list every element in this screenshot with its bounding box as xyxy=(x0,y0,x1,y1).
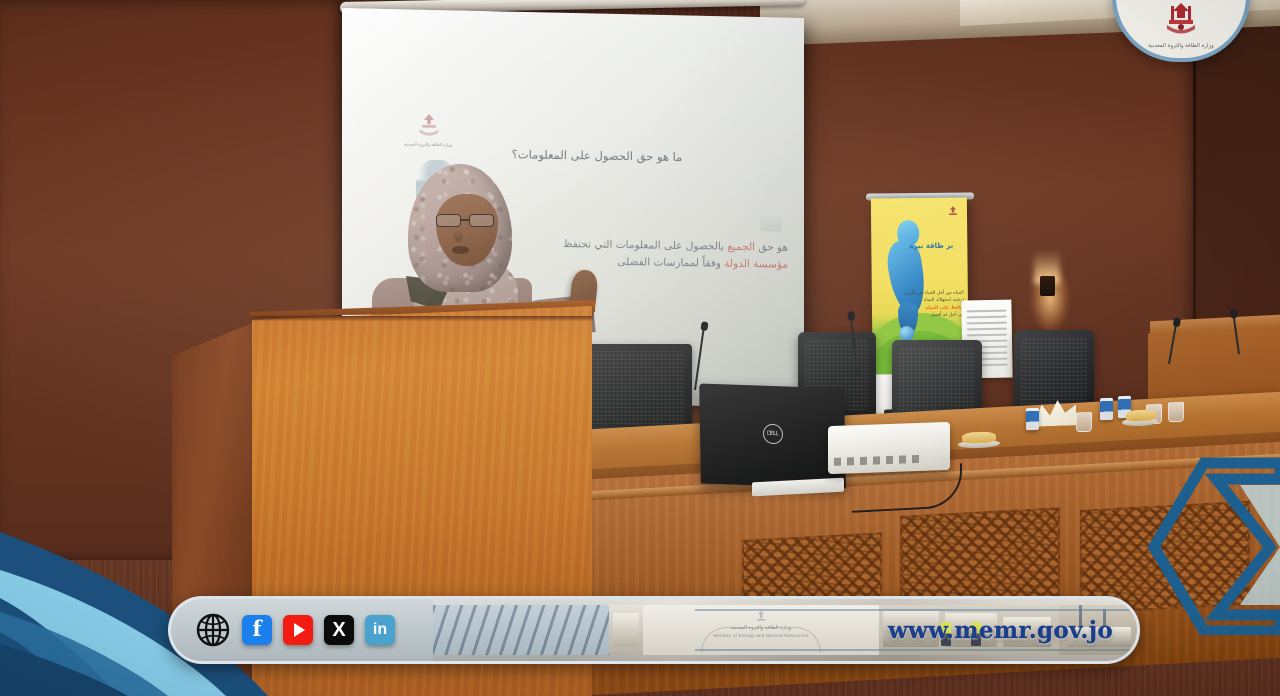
collage-stripe-top xyxy=(695,609,1137,611)
rollup-body-highlight: حافظ على المياه xyxy=(925,305,964,310)
wall-sconce-lamp xyxy=(1040,276,1055,296)
collage-solar-panels xyxy=(433,605,609,655)
laptop[interactable]: DELL xyxy=(699,383,846,488)
slide-body-post: وفقاً لممارسات الفضلى xyxy=(617,256,724,270)
rollup-body-line2: ترشيد استهلاك المياه xyxy=(924,298,964,303)
podium-lip xyxy=(252,316,593,321)
jordan-coat-of-arms-icon xyxy=(1159,1,1203,41)
pastry xyxy=(1126,409,1156,421)
ministry-logo xyxy=(412,112,446,143)
presenter-nose xyxy=(454,230,463,242)
eyeglass-lens-right xyxy=(469,214,494,227)
website-globe-icon[interactable] xyxy=(195,612,231,648)
youtube-icon[interactable] xyxy=(283,615,313,645)
collage-ministry-hq: وزارة الطاقة والثروة المعدنية Ministry o… xyxy=(643,605,879,655)
slide-corner-block xyxy=(760,215,782,231)
footer-banner: وزارة الطاقة والثروة المعدنية Ministry o… xyxy=(168,596,1140,664)
website-url[interactable]: www.memr.gov.jo xyxy=(888,617,1113,644)
collage-ministry-emblem xyxy=(753,610,769,624)
dell-logo: DELL xyxy=(762,424,782,445)
microphone-head xyxy=(1229,309,1237,319)
microphone-head xyxy=(700,321,708,331)
drinking-glass xyxy=(1168,402,1184,423)
youtube-play-triangle xyxy=(294,623,305,637)
presenter-mouth xyxy=(452,246,469,254)
x-twitter-icon[interactable]: X xyxy=(324,615,354,645)
drink-can xyxy=(1100,398,1113,420)
projector-ports xyxy=(834,455,920,466)
badge-caption: وزارة الطاقة والثروة المعدنية xyxy=(1122,43,1240,50)
screenshot-root: وزارة الطاقة والثروة المعدنية ما هو حق ا… xyxy=(0,0,1280,696)
mascot-droplet xyxy=(899,326,914,341)
drink-can xyxy=(1026,408,1039,430)
water-droplet-mascot xyxy=(885,220,930,338)
eyeglass-bridge xyxy=(461,219,469,221)
rollup-ministry-logo xyxy=(945,206,961,220)
rollup-headline: بر طاقة نيرة xyxy=(901,242,961,252)
microphone-head xyxy=(847,311,855,321)
collage-building xyxy=(609,605,643,655)
slide-body-highlight-1: الجميع xyxy=(727,241,755,253)
social-media-icons: f X in xyxy=(195,612,395,648)
chair-mesh xyxy=(1021,337,1087,412)
rollup-body-line3: من أجل غد أفضل xyxy=(930,313,964,318)
collage-stripe-bottom xyxy=(695,649,1137,651)
drinking-glass xyxy=(1076,412,1092,433)
rollup-body: المياه من أجل الحياة في الأردن ترشيد است… xyxy=(904,290,964,320)
eyeglass-lens-left xyxy=(436,214,461,227)
eyeglasses-icon xyxy=(436,214,496,227)
facebook-icon[interactable]: f xyxy=(242,615,272,645)
slide-body-highlight-2: مؤسسة الدولة xyxy=(724,258,788,271)
linkedin-icon[interactable]: in xyxy=(365,615,395,645)
pastry xyxy=(962,431,996,443)
collage-building-block xyxy=(613,613,639,647)
rollup-body-line1: المياه من أجل الحياة في الأردن xyxy=(904,291,964,297)
slide-body-pre: هو حق xyxy=(755,241,788,254)
